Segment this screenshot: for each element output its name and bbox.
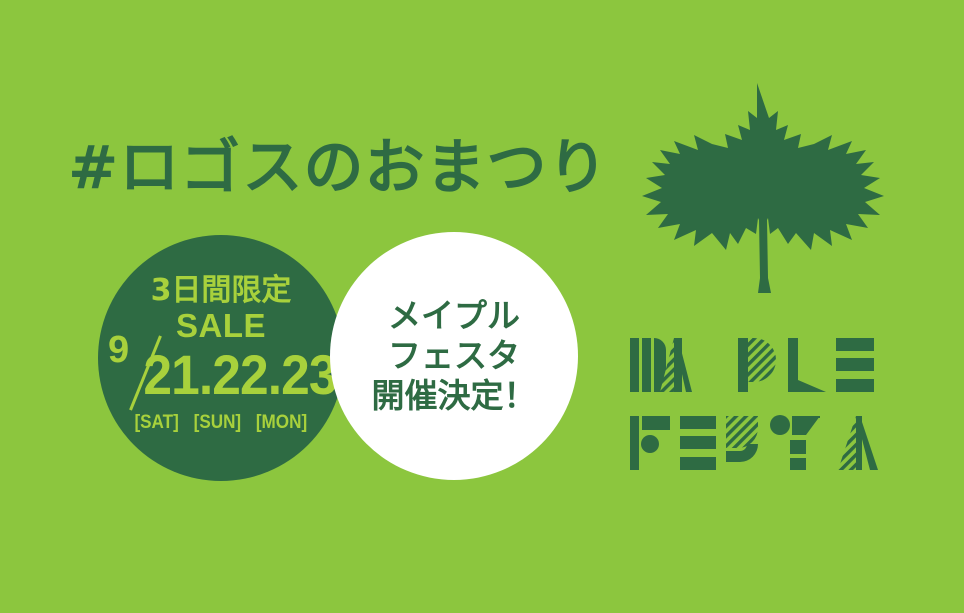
weekday-row: [SAT] [SUN] [MON] <box>98 413 344 432</box>
page-title: #ロゴスのおまつり <box>68 138 608 198</box>
month-number: 9 <box>108 331 129 369</box>
announcement-line-1: メイプル <box>388 296 520 336</box>
days-number: 21.22.23 <box>142 347 337 403</box>
announcement-line-2: フェスタ <box>388 336 520 376</box>
weekday-mon: [MON] <box>255 413 306 432</box>
maple-leaf-icon <box>618 78 908 296</box>
announcement-badge: メイプル フェスタ 開催決定！ <box>330 232 578 480</box>
date-badge: 3日間限定 SALE 9 21.22.23 [SAT] [SUN] [MON] <box>98 235 344 481</box>
announcement-line-3: 開催決定！ <box>372 376 537 416</box>
wordmark <box>630 322 902 492</box>
weekday-sun: [SUN] <box>193 413 241 432</box>
limited-offer-label: 3日間限定 <box>98 275 344 307</box>
promo-banner: #ロゴスのおまつり 3日間限定 SALE 9 21.22.23 [SAT] [S… <box>0 0 964 613</box>
sale-label: SALE <box>98 309 344 342</box>
weekday-sat: [SAT] <box>135 413 179 432</box>
